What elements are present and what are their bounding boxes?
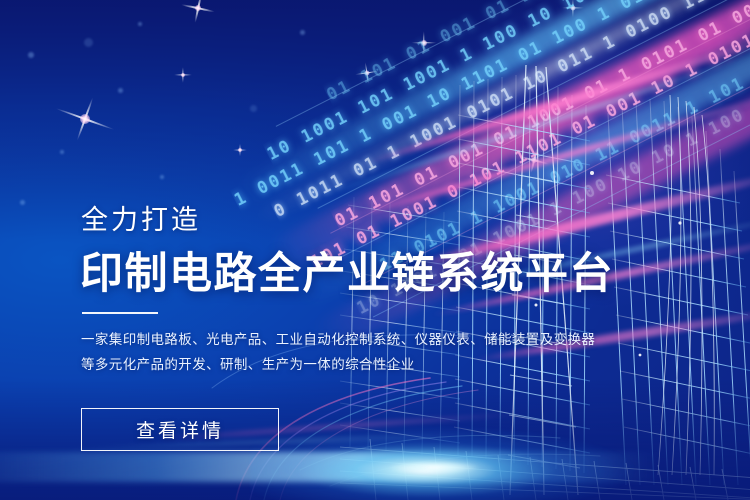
hero-content: 全力打造 印制电路全产业链系统平台 一家集印制电路板、光电产品、工业自动化控制系… [81, 0, 681, 500]
hero-eyebrow: 全力打造 [81, 198, 201, 237]
hero-subtitle: 一家集印制电路板、光电产品、工业自动化控制系统、仪器仪表、储能装置及变换器 等多… [81, 327, 561, 377]
hero-divider [82, 312, 158, 314]
hero-subtitle-line-2: 等多元化产品的开发、研制、生产为一体的综合性企业 [81, 352, 561, 377]
view-details-button[interactable]: 查看详情 [81, 408, 279, 451]
hero-headline: 印制电路全产业链系统平台 [80, 239, 614, 301]
hero-subtitle-line-1: 一家集印制电路板、光电产品、工业自动化控制系统、仪器仪表、储能装置及变换器 [81, 327, 561, 352]
hero-banner: 10 1001 101 1001 1 100 10 10 1 100 101 1… [0, 0, 750, 500]
